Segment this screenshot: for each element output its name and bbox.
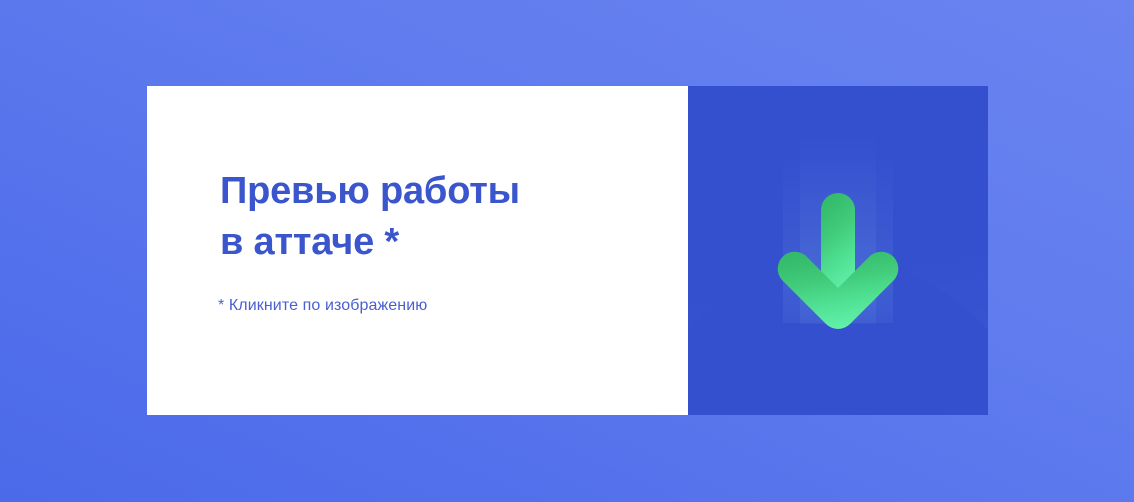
click-hint-text: * Кликните по изображению — [218, 296, 427, 317]
preview-card[interactable]: Превью работы в аттаче * * Кликните по и… — [147, 86, 988, 415]
page-title: Превью работы в аттаче * — [220, 166, 660, 267]
card-graphic-pane[interactable] — [688, 86, 988, 415]
page-background: Превью работы в аттаче * * Кликните по и… — [0, 0, 1134, 502]
card-text-pane: Превью работы в аттаче * * Кликните по и… — [147, 86, 688, 415]
download-arrow-icon[interactable] — [776, 204, 900, 342]
